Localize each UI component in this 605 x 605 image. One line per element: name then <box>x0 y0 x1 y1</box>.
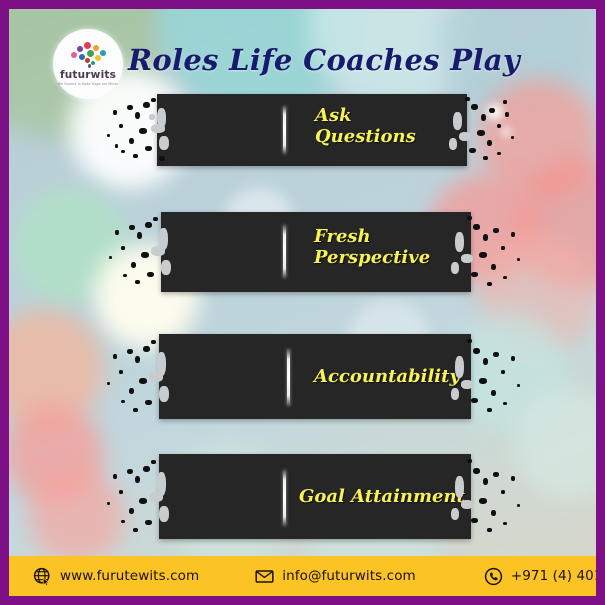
page-title: Roles Life Coaches Play <box>139 39 509 81</box>
role-bar-accountability[interactable]: Accountability <box>159 334 471 419</box>
role-label: Ask Questions <box>315 106 416 148</box>
bokeh-circle <box>29 469 124 564</box>
role-label: Accountability <box>314 367 460 388</box>
role-divider <box>283 225 286 278</box>
role-label-line: Questions <box>315 127 416 148</box>
role-label-line: Accountability <box>314 367 460 388</box>
role-label: Goal Attainment <box>299 487 465 508</box>
role-label-line: Fresh <box>314 227 430 248</box>
logo-dots-icon <box>66 42 110 68</box>
role-bar-fresh-perspective[interactable]: Fresh Perspective <box>161 212 471 292</box>
poster: futurwits We Nurture to Make Maps are Mi… <box>0 0 605 605</box>
role-label-line: Goal Attainment <box>299 487 465 508</box>
bokeh-circle <box>487 104 503 120</box>
role-label-line: Perspective <box>314 248 430 269</box>
contact-footer: www.furutewits.com info@futurwits.com +9… <box>9 556 596 596</box>
role-divider <box>283 470 286 526</box>
phone-icon <box>484 567 503 586</box>
envelope-icon <box>255 567 274 586</box>
role-bar-goal-attainment[interactable]: Goal Attainment <box>159 454 471 539</box>
brand-logo: futurwits We Nurture to Make Maps are Mi… <box>53 29 123 99</box>
role-divider <box>283 106 286 154</box>
role-divider <box>287 349 290 406</box>
logo-tagline: We Nurture to Make Maps are Minds <box>58 82 118 86</box>
role-label-line: Ask <box>315 106 416 127</box>
role-label: Fresh Perspective <box>314 227 430 269</box>
email-text: info@futurwits.com <box>282 568 416 584</box>
phone-text: +971 (4) 401 8655 <box>511 568 605 584</box>
role-bar-surface <box>157 94 467 166</box>
footer-email[interactable]: info@futurwits.com <box>255 567 416 586</box>
bokeh-circle <box>501 127 511 137</box>
globe-icon <box>33 567 52 586</box>
footer-phone[interactable]: +971 (4) 401 8655 <box>484 567 605 586</box>
footer-website[interactable]: www.furutewits.com <box>33 567 199 586</box>
role-bar-ask-questions[interactable]: Ask Questions <box>157 94 467 166</box>
website-text: www.furutewits.com <box>60 568 199 584</box>
logo-name: futurwits <box>60 69 116 81</box>
